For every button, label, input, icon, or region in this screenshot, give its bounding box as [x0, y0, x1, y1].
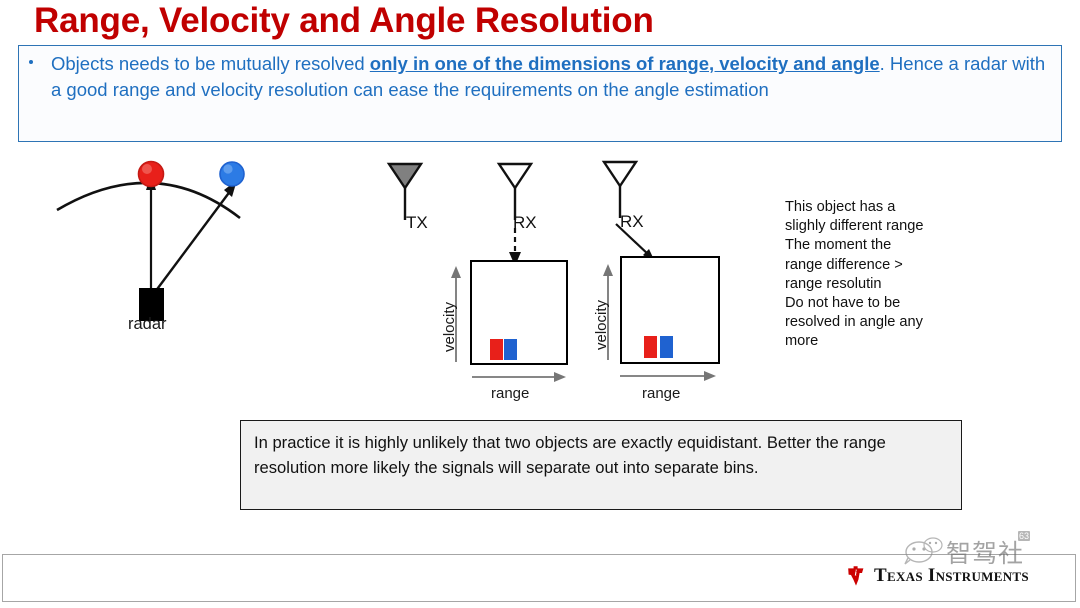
plot2-range-axis-arrow-icon [618, 369, 720, 383]
side-note-line: more [785, 332, 960, 351]
target-blue-icon [220, 162, 244, 186]
radar-diagram-svg [55, 150, 355, 350]
plot1-range-label: range [491, 385, 529, 402]
watermark-badge: 63 [1018, 531, 1030, 541]
radar-label: radar [128, 315, 167, 334]
side-note-line: This object has a [785, 198, 960, 217]
target-blue-highlight-icon [223, 164, 232, 173]
antenna-tx-label: TX [406, 213, 428, 233]
side-note-line: resolved in angle any [785, 313, 960, 332]
ti-wordmark: Texas Instruments [874, 565, 1029, 587]
bullet-text-part1: Objects needs to be mutually resolved [51, 53, 370, 74]
practice-note-text: In practice it is highly unlikely that t… [254, 430, 951, 480]
side-note: This object has a slighly different rang… [785, 198, 960, 352]
side-note-line: range difference > [785, 256, 960, 275]
plot1-range-axis-arrow-icon [470, 370, 570, 384]
plot1-marker-blue [504, 339, 517, 360]
bullet-text-emphasis: only in one of the dimensions of range, … [370, 53, 880, 74]
bullet-text: Objects needs to be mutually resolved on… [51, 51, 1053, 103]
bullet-marker-icon [29, 60, 33, 64]
range-doppler-plot-1 [470, 260, 568, 365]
antenna-rx-2-icon [600, 158, 640, 220]
texas-instruments-logo-icon: i [845, 565, 867, 587]
beam-line-blue [155, 190, 231, 292]
range-doppler-plot-2 [620, 256, 720, 364]
slide-canvas: Range, Velocity and Angle Resolution Obj… [0, 0, 1080, 608]
bullet-callout-box: Objects needs to be mutually resolved on… [18, 45, 1062, 142]
ti-logo: i Texas Instruments [845, 565, 1029, 587]
target-red-icon [139, 162, 164, 187]
side-note-line: The moment the [785, 236, 960, 255]
target-red-highlight-icon [142, 164, 152, 174]
plot2-marker-red [644, 336, 657, 358]
side-note-line: slighly different range [785, 217, 960, 236]
plot1-velocity-label: velocity [441, 302, 458, 352]
plot1-marker-red [490, 339, 503, 360]
bullet-row: Objects needs to be mutually resolved on… [29, 51, 1053, 103]
plot2-range-label: range [642, 385, 680, 402]
practice-note-box: In practice it is highly unlikely that t… [240, 420, 962, 510]
side-note-line: range resolutin [785, 275, 960, 294]
plot2-marker-blue [660, 336, 673, 358]
radar-angle-diagram [55, 150, 355, 350]
plot2-velocity-label: velocity [593, 300, 610, 350]
page-title: Range, Velocity and Angle Resolution [34, 1, 654, 41]
side-note-line: Do not have to be [785, 294, 960, 313]
